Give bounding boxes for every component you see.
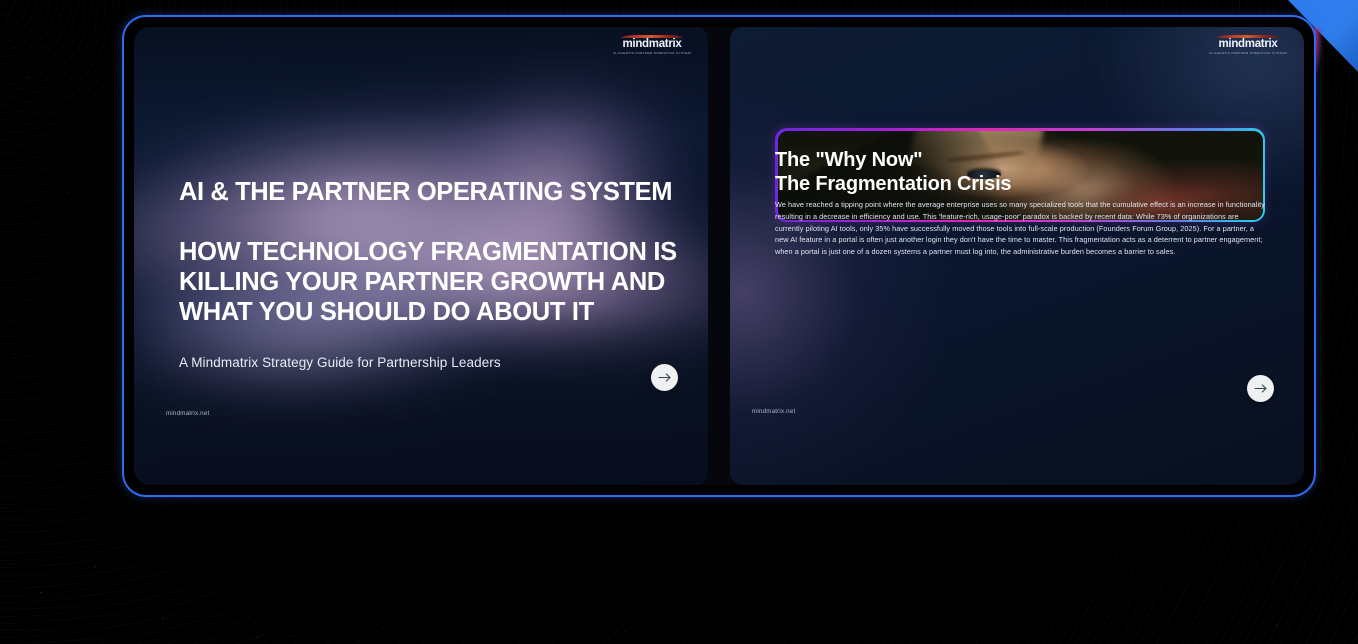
slide-subtitle: HOW TECHNOLOGY FRAGMENTATION IS KILLING …: [179, 237, 704, 327]
next-slide-button[interactable]: [651, 364, 678, 391]
mindmatrix-logo: mindmatrix AI-AGENTIC PARTNER OPERATING …: [1214, 35, 1282, 55]
arrow-right-icon: [1254, 383, 1268, 394]
logo-wordmark: mindmatrix: [623, 39, 682, 51]
slide-cover[interactable]: mindmatrix AI-AGENTIC PARTNER OPERATING …: [134, 27, 708, 485]
footer-url: mindmatrix.net: [752, 408, 795, 415]
slide-title: AI & THE PARTNER OPERATING SYSTEM: [179, 179, 708, 206]
arrow-right-icon: [658, 372, 672, 383]
logo-arc-icon: [621, 35, 683, 38]
slide-deck-viewport: mindmatrix AI-AGENTIC PARTNER OPERATING …: [134, 27, 1304, 485]
page-root: mindmatrix AI-AGENTIC PARTNER OPERATING …: [0, 0, 1358, 644]
logo-tagline: AI-AGENTIC PARTNER OPERATING SYSTEM: [613, 52, 691, 55]
next-slide-button[interactable]: [1247, 375, 1274, 402]
slide-body-text: We have reached a tipping point where th…: [775, 199, 1267, 258]
logo-wordmark: mindmatrix: [1219, 39, 1278, 51]
mindmatrix-logo: mindmatrix AI-AGENTIC PARTNER OPERATING …: [618, 35, 686, 55]
slide-kicker: A Mindmatrix Strategy Guide for Partners…: [179, 355, 501, 370]
presentation-device-frame: mindmatrix AI-AGENTIC PARTNER OPERATING …: [122, 15, 1316, 497]
slide-heading: The "Why Now" The Fragmentation Crisis: [775, 149, 1195, 196]
logo-arc-icon: [1217, 35, 1279, 38]
footer-url: mindmatrix.net: [166, 410, 209, 417]
slide-heading-line-1: The "Why Now": [775, 149, 922, 171]
slide-why-now[interactable]: mindmatrix AI-AGENTIC PARTNER OPERATING …: [730, 27, 1304, 485]
logo-tagline: AI-AGENTIC PARTNER OPERATING SYSTEM: [1209, 52, 1287, 55]
slide-heading-line-2: The Fragmentation Crisis: [775, 173, 1011, 195]
